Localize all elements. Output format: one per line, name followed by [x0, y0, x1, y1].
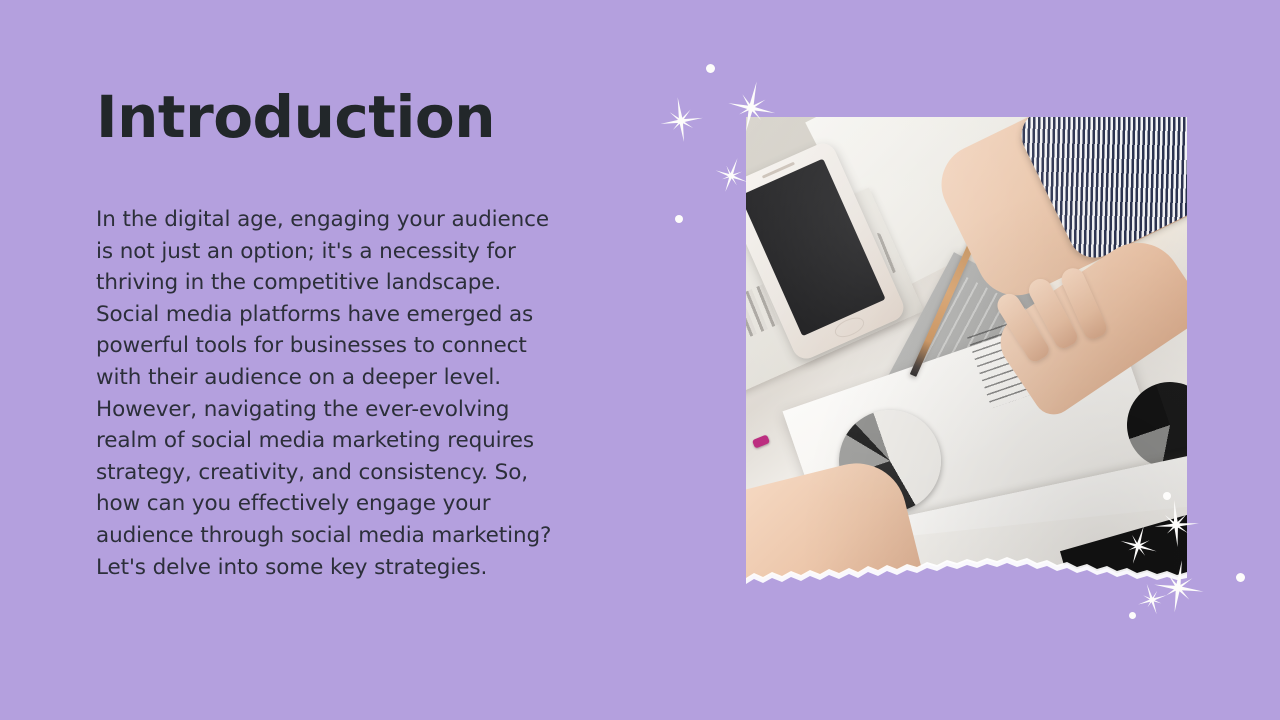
dot-lower-left	[1129, 612, 1136, 619]
photo-pink-clip	[752, 434, 770, 448]
body-paragraph: In the digital age, engaging your audien…	[96, 146, 636, 583]
dot-bottom-right	[1236, 573, 1245, 582]
sparkle-top-left	[654, 94, 708, 148]
dot-top-left	[706, 64, 715, 73]
dot-mid-left	[675, 215, 683, 223]
text-column: Introduction In the digital age, engagin…	[96, 88, 636, 583]
page-title: Introduction	[96, 88, 636, 146]
slide-root: Introduction In the digital age, engagin…	[0, 0, 1280, 720]
photo-frame	[746, 117, 1187, 598]
photo-image	[746, 117, 1187, 598]
